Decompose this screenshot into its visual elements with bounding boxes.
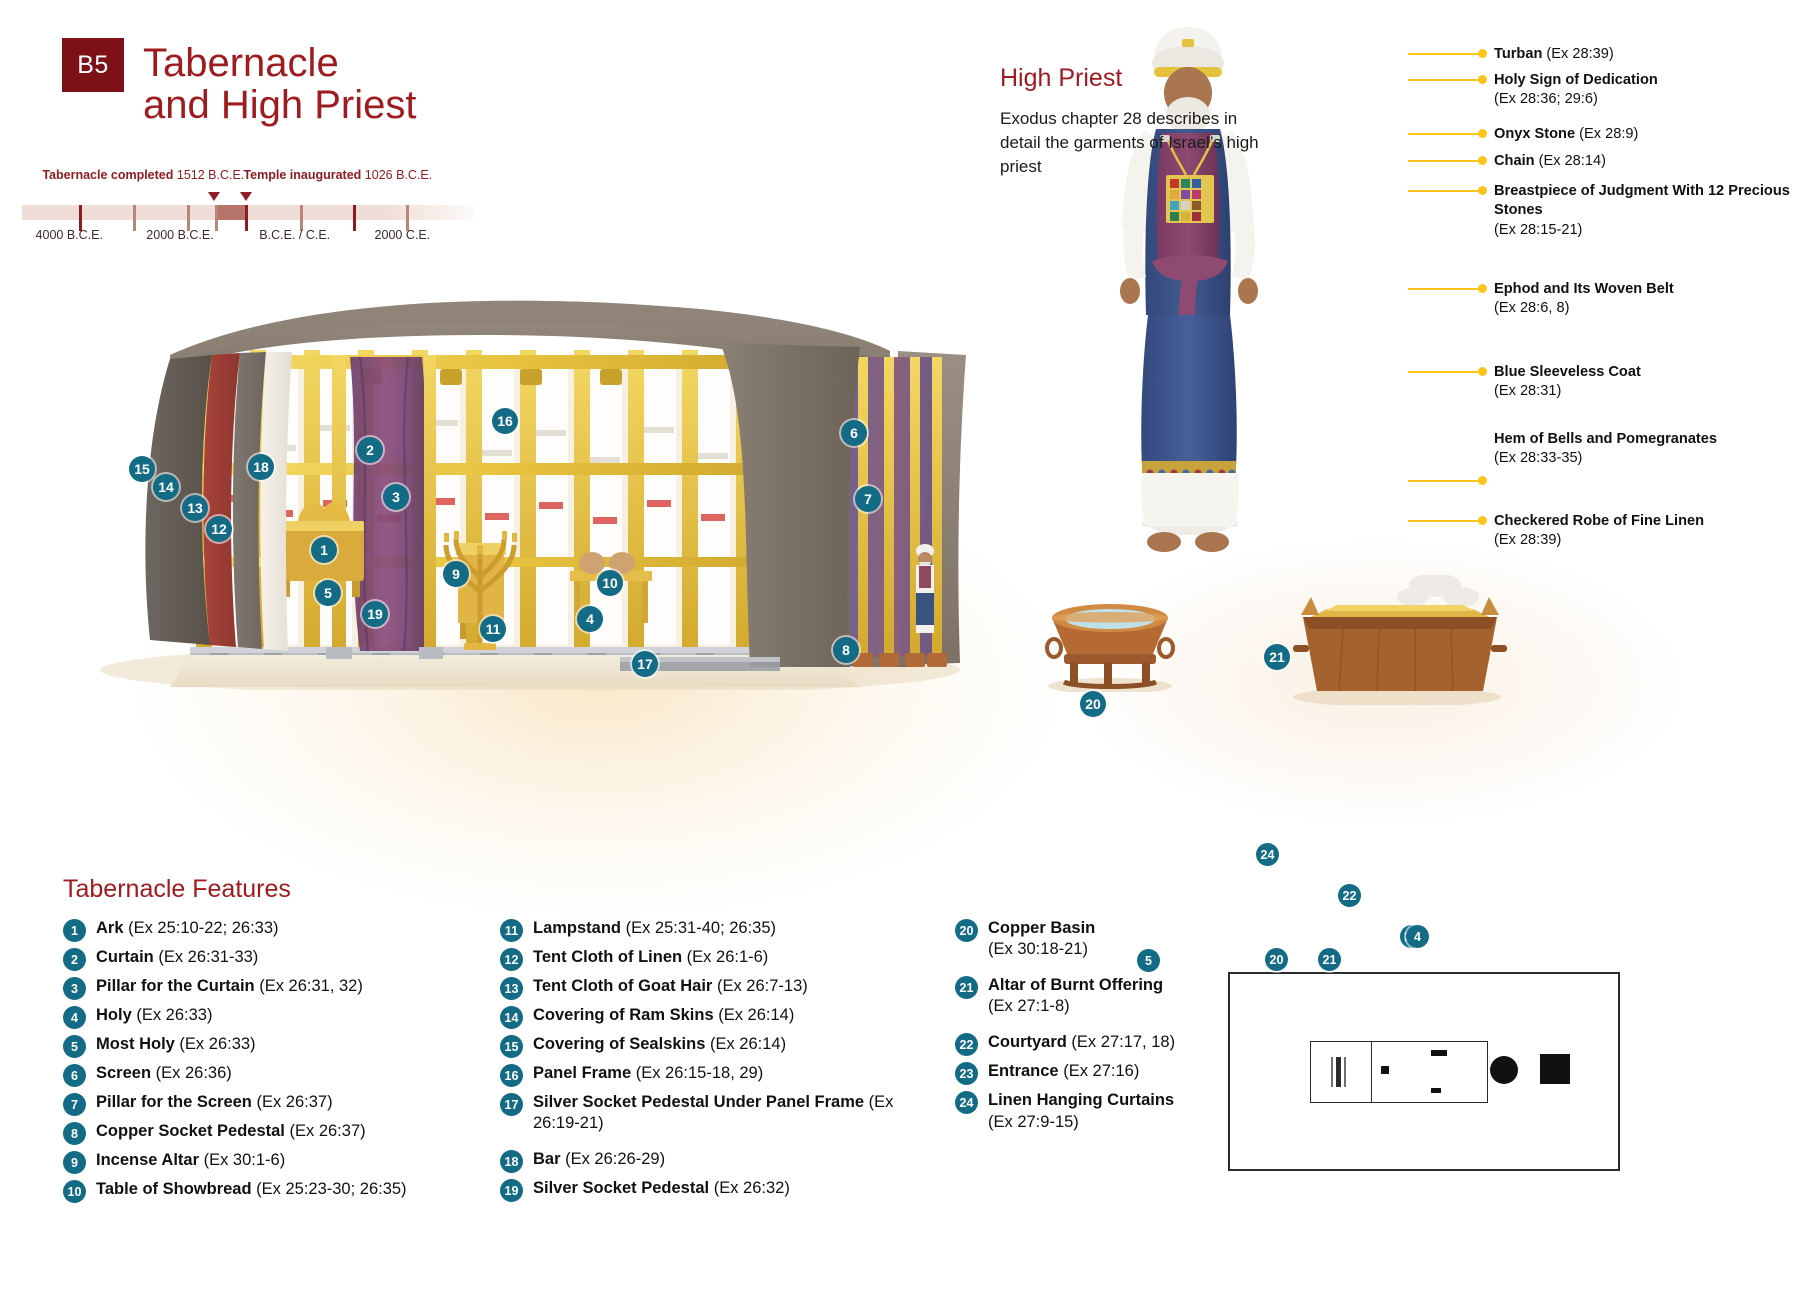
feature-list-item[interactable]: 24Linen Hanging Curtains(Ex 27:9-15) [955,1090,1215,1132]
high-priest-callout-label: Holy Sign of Dedication [1494,72,1658,88]
feature-label: Incense Altar (Ex 30:1-6) [96,1150,285,1171]
illustration-marker-2[interactable]: 2 [357,437,383,463]
feature-label-name: Screen [96,1064,151,1082]
feature-number-badge: 21 [955,976,978,999]
plan-table-symbol [1431,1050,1447,1056]
feature-label-name: Table of Showbread [96,1180,252,1198]
features-spacer [955,1022,1215,1032]
feature-label-name: Silver Socket Pedestal Under Panel Frame [533,1093,864,1111]
feature-label: Silver Socket Pedestal Under Panel Frame… [533,1092,920,1134]
altar-of-burnt-offering-illustration [1285,575,1515,705]
plan-ark-symbol [1336,1057,1341,1087]
timeline-axis-label: 2000 B.C.E. [146,228,213,242]
callout-leader-line [1408,371,1480,373]
feature-label-name: Incense Altar [96,1151,199,1169]
timeline-tick [245,205,248,231]
feature-label: Copper Basin(Ex 30:18-21) [988,918,1095,960]
courtyard-floor-plan [1228,972,1620,1171]
feature-label-name: Copper Basin [988,919,1095,937]
feature-label: Entrance (Ex 27:16) [988,1061,1139,1082]
floor-plan-marker-5[interactable]: 5 [1137,949,1160,972]
high-priest-callout-ref: (Ex 28:33-35) [1494,449,1794,468]
illustration-marker-8[interactable]: 8 [833,637,859,663]
callout-leader-line [1408,133,1480,135]
feature-label-ref: (Ex 27:16) [1059,1062,1140,1080]
plan-holy-compartment [1310,1041,1488,1103]
high-priest-callout: Ephod and Its Woven Belt(Ex 28:6, 8) [1494,280,1794,319]
feature-label-name: Covering of Sealskins [533,1035,705,1053]
high-priest-callout-label: Blue Sleeveless Coat [1494,364,1641,380]
illustration-marker-7[interactable]: 7 [855,486,881,512]
illustration-marker-10[interactable]: 10 [597,570,623,596]
timeline-event-arrow [240,192,252,201]
feature-label: Pillar for the Curtain (Ex 26:31, 32) [96,976,363,997]
feature-label: Tent Cloth of Linen (Ex 26:1-6) [533,947,768,968]
feature-label-ref: (Ex 26:14) [714,1006,795,1024]
feature-list-item[interactable]: 14Covering of Ram Skins (Ex 26:14) [500,1005,920,1029]
high-priest-callout-label: Hem of Bells and Pomegranates [1494,431,1717,447]
feature-label-name: Altar of Burnt Offering [988,976,1163,994]
feature-label-ref: (Ex 26:32) [709,1179,790,1197]
section-badge: B5 [62,38,124,92]
timeline-event-date: 1026 B.C.E. [361,168,432,182]
timeline: Tabernacle completed 1512 B.C.E.Temple i… [22,182,492,252]
high-priest-callout: Blue Sleeveless Coat(Ex 28:31) [1494,363,1794,402]
feature-label-name: Bar [533,1150,561,1168]
illustration-marker-4[interactable]: 4 [577,606,603,632]
feature-label-ref: (Ex 26:31, 32) [255,977,363,995]
feature-list-item[interactable]: 18Bar (Ex 26:26-29) [500,1149,920,1173]
feature-list-item[interactable]: 4Holy (Ex 26:33) [63,1005,463,1029]
callout-leader-line [1408,79,1480,81]
floor-plan-marker-24[interactable]: 24 [1256,843,1279,866]
feature-label-ref-line2: (Ex 27:1-8) [988,997,1070,1015]
feature-label-ref: (Ex 30:1-6) [199,1151,285,1169]
timeline-event-title: Tabernacle completed [42,168,173,182]
feature-number-badge: 19 [500,1179,523,1202]
features-column: 11Lampstand (Ex 25:31-40; 26:35)12Tent C… [500,918,920,1207]
feature-list-item[interactable]: 17Silver Socket Pedestal Under Panel Fra… [500,1092,920,1134]
feature-label: Bar (Ex 26:26-29) [533,1149,665,1170]
feature-list-item[interactable]: 5Most Holy (Ex 26:33) [63,1034,463,1058]
timeline-tick [133,205,136,231]
feature-number-badge: 12 [500,948,523,971]
feature-label: Ark (Ex 25:10-22; 26:33) [96,918,279,939]
feature-list-item[interactable]: 22Courtyard (Ex 27:17, 18) [955,1032,1215,1056]
high-priest-callout-label: Checkered Robe of Fine Linen [1494,513,1704,529]
timeline-tick [215,205,218,231]
feature-label: Copper Socket Pedestal (Ex 26:37) [96,1121,366,1142]
feature-list-item[interactable]: 16Panel Frame (Ex 26:15-18, 29) [500,1063,920,1087]
callout-leader-line [1408,160,1480,162]
illustration-marker-13[interactable]: 13 [182,495,208,521]
feature-number-badge: 9 [63,1151,86,1174]
feature-list-item[interactable]: 8Copper Socket Pedestal (Ex 26:37) [63,1121,463,1145]
feature-list-item[interactable]: 7Pillar for the Screen (Ex 26:37) [63,1092,463,1116]
callout-leader-line [1408,520,1480,522]
illustration-marker-1[interactable]: 1 [311,537,337,563]
feature-label-ref: (Ex 25:31-40; 26:35) [621,919,776,937]
feature-number-badge: 17 [500,1093,523,1116]
feature-label-ref: (Ex 25:10-22; 26:33) [124,919,279,937]
page-title-line2: and High Priest [143,84,703,126]
feature-number-badge: 15 [500,1035,523,1058]
high-priest-callout-ref: (Ex 28:14) [1535,153,1606,169]
illustration-marker-14[interactable]: 14 [153,474,179,500]
illustration-marker-19[interactable]: 19 [362,601,388,627]
feature-label-name: Pillar for the Screen [96,1093,252,1111]
timeline-axis-label: 4000 B.C.E. [36,228,103,242]
high-priest-callout: Holy Sign of Dedication(Ex 28:36; 29:6) [1494,71,1794,110]
timeline-event-title: Temple inaugurated [243,168,361,182]
feature-label-name: Panel Frame [533,1064,631,1082]
feature-number-badge: 16 [500,1064,523,1087]
feature-list-item[interactable]: 1Ark (Ex 25:10-22; 26:33) [63,918,463,942]
feature-list-item[interactable]: 20Copper Basin(Ex 30:18-21) [955,918,1215,960]
feature-label-name: Pillar for the Curtain [96,977,255,995]
feature-label-ref: (Ex 26:37) [252,1093,333,1111]
feature-label-name: Lampstand [533,919,621,937]
feature-label-ref: (Ex 26:33) [132,1006,213,1024]
high-priest-callout-ref: (Ex 28:39) [1542,46,1613,62]
feature-label: Altar of Burnt Offering(Ex 27:1-8) [988,975,1163,1017]
feature-number-badge: 6 [63,1064,86,1087]
feature-list-item[interactable]: 12Tent Cloth of Linen (Ex 26:1-6) [500,947,920,971]
feature-label-ref: (Ex 26:31-33) [154,948,259,966]
feature-list-item[interactable]: 11Lampstand (Ex 25:31-40; 26:35) [500,918,920,942]
plan-most-holy-compartment [1311,1042,1372,1102]
floor-plan-marker-22[interactable]: 22 [1338,884,1361,907]
feature-label: Tent Cloth of Goat Hair (Ex 26:7-13) [533,976,808,997]
copper-basin-illustration [1030,592,1190,692]
floor-plan-marker-20[interactable]: 20 [1265,948,1288,971]
feature-number-badge: 4 [63,1006,86,1029]
feature-label-name: Tent Cloth of Linen [533,948,682,966]
feature-label: Table of Showbread (Ex 25:23-30; 26:35) [96,1179,407,1200]
illustration-marker-3[interactable]: 3 [383,484,409,510]
high-priest-callout-label: Onyx Stone [1494,126,1575,142]
feature-number-badge: 14 [500,1006,523,1029]
feature-label-ref-line2: (Ex 27:9-15) [988,1113,1079,1131]
timeline-event-date: 1512 B.C.E. [173,168,244,182]
features-column: 20Copper Basin(Ex 30:18-21)21Altar of Bu… [955,918,1215,1138]
feature-label: Covering of Sealskins (Ex 26:14) [533,1034,786,1055]
feature-label-name: Linen Hanging Curtains [988,1091,1174,1109]
feature-label-ref-line2: (Ex 30:18-21) [988,940,1088,958]
feature-label: Silver Socket Pedestal (Ex 26:32) [533,1178,790,1199]
feature-number-badge: 20 [955,919,978,942]
feature-list-item[interactable]: 2Curtain (Ex 26:31-33) [63,947,463,971]
feature-label: Courtyard (Ex 27:17, 18) [988,1032,1175,1053]
timeline-event-label: Temple inaugurated 1026 B.C.E. [243,168,432,182]
high-priest-callout-label: Ephod and Its Woven Belt [1494,281,1674,297]
high-priest-callout: Turban (Ex 28:39) [1494,45,1794,64]
plan-lampstand-symbol [1431,1088,1441,1093]
feature-label-name: Ark [96,919,124,937]
feature-number-badge: 24 [955,1091,978,1114]
feature-number-badge: 11 [500,919,523,942]
feature-label-name: Courtyard [988,1033,1067,1051]
feature-number-badge: 8 [63,1122,86,1145]
feature-list-item[interactable]: 23Entrance (Ex 27:16) [955,1061,1215,1085]
feature-number-badge: 2 [63,948,86,971]
feature-label-ref: (Ex 26:14) [705,1035,786,1053]
feature-number-badge: 10 [63,1180,86,1203]
plan-copper-basin-symbol [1490,1056,1518,1084]
feature-label: Curtain (Ex 26:31-33) [96,947,258,968]
feature-label-name: Curtain [96,948,154,966]
floor-plan-marker-4[interactable]: 4 [1406,925,1429,948]
feature-label: Screen (Ex 26:36) [96,1063,232,1084]
feature-label-name: Copper Socket Pedestal [96,1122,285,1140]
feature-label-name: Entrance [988,1062,1059,1080]
feature-label-name: Most Holy [96,1035,175,1053]
feature-list-item[interactable]: 3Pillar for the Curtain (Ex 26:31, 32) [63,976,463,1000]
illustration-marker-18[interactable]: 18 [248,454,274,480]
high-priest-callout-label: Chain [1494,153,1535,169]
timeline-event-label: Tabernacle completed 1512 B.C.E. [42,168,244,182]
illustration-marker-17[interactable]: 17 [632,651,658,677]
features-spacer [955,965,1215,975]
high-priest-callout: Breastpiece of Judgment With 12 Precious… [1494,182,1794,240]
high-priest-callout-ref: (Ex 28:31) [1494,382,1794,401]
feature-list-item[interactable]: 21Altar of Burnt Offering(Ex 27:1-8) [955,975,1215,1017]
callout-leader-line [1408,190,1480,192]
feature-number-badge: 1 [63,919,86,942]
illustration-marker-20[interactable]: 20 [1080,691,1106,717]
high-priest-callout: Hem of Bells and Pomegranates(Ex 28:33-3… [1494,430,1794,469]
feature-label-name: Holy [96,1006,132,1024]
feature-number-badge: 23 [955,1062,978,1085]
illustration-marker-5[interactable]: 5 [315,580,341,606]
high-priest-callout: Onyx Stone (Ex 28:9) [1494,125,1794,144]
feature-label-ref: (Ex 26:33) [175,1035,256,1053]
illustration-marker-9[interactable]: 9 [443,561,469,587]
feature-list-item[interactable]: 9Incense Altar (Ex 30:1-6) [63,1150,463,1174]
callout-leader-line [1408,53,1480,55]
feature-number-badge: 3 [63,977,86,1000]
features-spacer [500,1139,920,1149]
feature-label-ref: (Ex 26:7-13) [712,977,807,995]
feature-list-item[interactable]: 19Silver Socket Pedestal (Ex 26:32) [500,1178,920,1202]
timeline-highlight-span [215,205,244,220]
feature-label-ref: (Ex 25:23-30; 26:35) [252,1180,407,1198]
illustration-marker-21[interactable]: 21 [1264,644,1290,670]
high-priest-callout-label: Breastpiece of Judgment With 12 Precious… [1494,183,1790,218]
timeline-event-arrow [208,192,220,201]
feature-label-ref: (Ex 26:37) [285,1122,366,1140]
feature-label-name: Silver Socket Pedestal [533,1179,709,1197]
page-title-line1: Tabernacle [143,41,339,85]
timeline-tick [353,205,356,231]
high-priest-callout: Chain (Ex 28:14) [1494,152,1794,171]
feature-label-name: Tent Cloth of Goat Hair [533,977,712,995]
feature-number-badge: 5 [63,1035,86,1058]
feature-label: Panel Frame (Ex 26:15-18, 29) [533,1063,763,1084]
feature-label: Pillar for the Screen (Ex 26:37) [96,1092,333,1113]
floor-plan-marker-21[interactable]: 21 [1318,948,1341,971]
illustration-marker-16[interactable]: 16 [492,408,518,434]
feature-list-item[interactable]: 15Covering of Sealskins (Ex 26:14) [500,1034,920,1058]
feature-number-badge: 13 [500,977,523,1000]
high-priest-callout-ref: (Ex 28:6, 8) [1494,299,1794,318]
features-heading: Tabernacle Features [63,875,291,904]
feature-number-badge: 22 [955,1033,978,1056]
callout-leader-line [1408,480,1480,482]
timeline-axis-label: B.C.E. / C.E. [259,228,330,242]
high-priest-description: Exodus chapter 28 describes in detail th… [1000,107,1270,179]
page-title: Tabernacle and High Priest [143,42,703,127]
feature-list-item[interactable]: 10Table of Showbread (Ex 25:23-30; 26:35… [63,1179,463,1203]
illustration-marker-11[interactable]: 11 [480,616,506,642]
feature-list-item[interactable]: 13Tent Cloth of Goat Hair (Ex 26:7-13) [500,976,920,1000]
high-priest-callout-ref: (Ex 28:39) [1494,531,1794,550]
feature-label-ref: (Ex 26:26-29) [561,1150,666,1168]
feature-label: Most Holy (Ex 26:33) [96,1034,256,1055]
feature-label-name: Covering of Ram Skins [533,1006,714,1024]
feature-label-ref: (Ex 26:15-18, 29) [631,1064,763,1082]
feature-list-item[interactable]: 6Screen (Ex 26:36) [63,1063,463,1087]
high-priest-heading: High Priest [1000,64,1122,93]
timeline-axis-label: 2000 C.E. [375,228,431,242]
callout-leader-line [1408,288,1480,290]
illustration-marker-15[interactable]: 15 [129,456,155,482]
feature-label: Linen Hanging Curtains(Ex 27:9-15) [988,1090,1174,1132]
high-priest-callout-label: Turban [1494,46,1542,62]
illustration-marker-6[interactable]: 6 [841,420,867,446]
features-column: 1Ark (Ex 25:10-22; 26:33)2Curtain (Ex 26… [63,918,463,1208]
illustration-marker-12[interactable]: 12 [206,516,232,542]
feature-label-ref: (Ex 26:1-6) [682,948,768,966]
feature-label: Covering of Ram Skins (Ex 26:14) [533,1005,794,1026]
plan-incense-altar-symbol [1381,1066,1389,1074]
high-priest-callout-ref: (Ex 28:36; 29:6) [1494,90,1794,109]
feature-label: Lampstand (Ex 25:31-40; 26:35) [533,918,776,939]
plan-altar-symbol [1540,1054,1570,1084]
high-priest-callout-ref: (Ex 28:15-21) [1494,221,1794,240]
feature-label-ref: (Ex 27:17, 18) [1067,1033,1175,1051]
feature-label: Holy (Ex 26:33) [96,1005,212,1026]
high-priest-callout-ref: (Ex 28:9) [1575,126,1638,142]
feature-number-badge: 7 [63,1093,86,1116]
feature-number-badge: 18 [500,1150,523,1173]
high-priest-illustration [1090,15,1290,575]
feature-label-ref: (Ex 26:36) [151,1064,232,1082]
high-priest-callout: Checkered Robe of Fine Linen(Ex 28:39) [1494,512,1794,551]
